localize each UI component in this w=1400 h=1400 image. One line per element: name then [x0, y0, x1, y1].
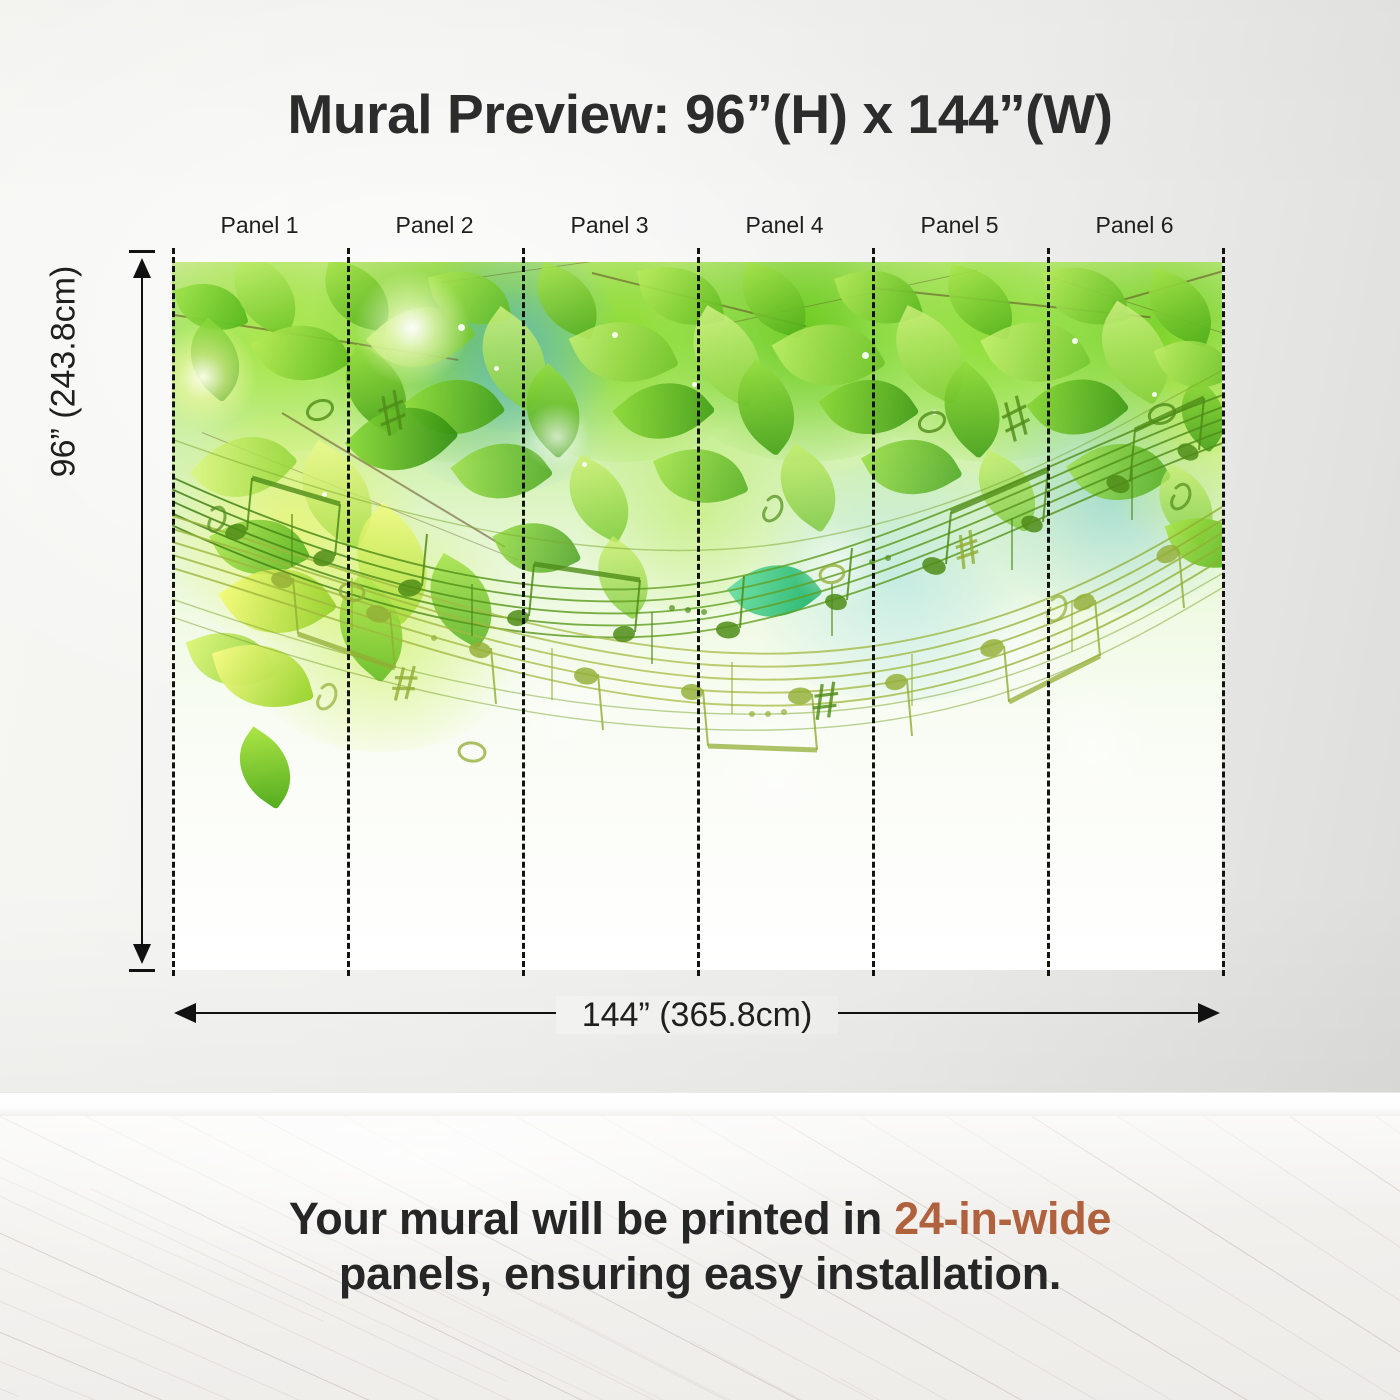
leaf: [761, 443, 854, 533]
panel-label-5: Panel 5: [872, 212, 1047, 239]
branch: [442, 262, 680, 283]
leaf: [637, 262, 725, 334]
leaf: [580, 536, 666, 620]
canopy-bloom: [832, 262, 1152, 462]
leaf: [428, 262, 512, 336]
falling-leaf: [345, 382, 460, 496]
branch: [1112, 263, 1222, 304]
canopy-bloom: [562, 412, 822, 612]
panel-divider: [522, 248, 525, 976]
bokeh: [522, 402, 592, 472]
sparkle: [862, 352, 869, 359]
branch: [172, 312, 458, 361]
height-tick-bottom: [129, 969, 155, 972]
leaf: [327, 344, 424, 436]
bokeh: [502, 652, 622, 772]
leaf: [672, 305, 781, 409]
leaf: [861, 418, 963, 515]
bokeh: [792, 522, 882, 612]
sparkle: [322, 492, 327, 497]
leaf: [450, 421, 554, 521]
leaf: [505, 363, 601, 459]
leaf: [209, 499, 311, 595]
leaf: [1153, 325, 1222, 402]
leaf: [938, 264, 1022, 340]
panel-divider: [697, 248, 700, 976]
caption: Your mural will be printed in 24-in-wide…: [0, 1192, 1400, 1302]
leaf: [173, 272, 249, 343]
leaf: [219, 262, 312, 338]
height-dimension-arrow: [112, 250, 172, 972]
falling-leaf: [222, 726, 308, 809]
canopy-bloom: [232, 512, 532, 752]
leaf: [404, 357, 506, 456]
floor-grain: [540, 1302, 1056, 1400]
width-dimension-label: 144” (365.8cm): [172, 996, 1222, 1035]
height-tick-top: [129, 250, 155, 253]
canopy-bloom: [642, 262, 972, 462]
leaf: [190, 412, 299, 521]
leaf: [731, 262, 817, 339]
caption-line1-prefix: Your mural will be printed in: [289, 1193, 894, 1244]
leaf: [1080, 301, 1190, 406]
canopy-bloom: [372, 292, 632, 492]
leaf: [1042, 262, 1130, 335]
panel-divider: [1047, 248, 1050, 976]
leaf: [524, 262, 610, 340]
width-dimension-text: 144” (365.8cm): [556, 996, 839, 1034]
arrow-shaft: [141, 264, 143, 958]
leaf: [1066, 421, 1172, 523]
canopy-bloom: [732, 462, 1072, 702]
panel-divider: [1222, 248, 1225, 976]
leaf: [569, 300, 680, 403]
leaf: [772, 300, 887, 409]
panel-divider: [172, 248, 175, 976]
panel-label-1: Panel 1: [172, 212, 347, 239]
leaf: [218, 543, 338, 659]
leaf: [251, 304, 353, 401]
canopy-bloom: [962, 382, 1222, 612]
leaf: [980, 300, 1092, 405]
sparkle: [932, 410, 937, 415]
panel-divider: [347, 248, 350, 976]
canopy-bloom: [172, 262, 432, 452]
canopy-bloom: [472, 262, 772, 462]
leaf: [492, 506, 581, 591]
leaf: [834, 262, 924, 338]
bokeh: [962, 592, 1072, 702]
leaf: [922, 361, 1021, 459]
canopy-bloom: [172, 412, 432, 642]
branch: [1052, 277, 1222, 340]
leaf: [186, 617, 277, 701]
falling-leaf: [212, 630, 315, 723]
panel-label-3: Panel 3: [522, 212, 697, 239]
leaf: [279, 440, 395, 550]
leaf: [172, 317, 258, 402]
height-dimension-label: 96” (243.8cm): [45, 112, 84, 632]
sparkle: [1152, 392, 1157, 397]
sparkle: [582, 462, 587, 467]
branch: [202, 432, 518, 560]
leaf: [877, 305, 983, 405]
branch: [732, 270, 977, 323]
page-title: Mural Preview: 96”(H) x 144”(W): [0, 82, 1400, 146]
sun-flare: [172, 322, 258, 432]
bokeh: [712, 692, 842, 822]
leaf: [552, 454, 646, 543]
leaf: [716, 359, 815, 456]
sparkle: [612, 332, 618, 338]
leaf: [963, 450, 1051, 533]
panel-label-6: Panel 6: [1047, 212, 1222, 239]
leaf: [612, 360, 716, 462]
panel-label-2: Panel 2: [347, 212, 522, 239]
leaf: [1026, 356, 1130, 457]
sparkle: [458, 324, 465, 331]
leaf: [1142, 463, 1222, 547]
leaf: [315, 573, 427, 683]
leaf: [1136, 268, 1222, 347]
canopy-bloom: [1072, 322, 1222, 542]
panel-label-4: Panel 4: [697, 212, 872, 239]
arrow-head-down-icon: [133, 944, 151, 964]
leaf: [459, 306, 568, 412]
leaf: [653, 432, 749, 521]
canopy-bloom: [292, 262, 612, 462]
branch: [281, 412, 505, 548]
falling-leaf: [727, 544, 823, 638]
caption-accent-24-in-wide: 24-in-wide: [894, 1193, 1111, 1244]
sparkle: [1072, 338, 1078, 344]
bokeh: [1032, 682, 1152, 802]
width-dimension-arrow: 144” (365.8cm): [172, 1000, 1222, 1026]
leaf: [1165, 377, 1222, 453]
leaf: [317, 262, 398, 333]
baseboard: [0, 1092, 1400, 1118]
panel-divider: [872, 248, 875, 976]
sparkle: [494, 366, 499, 371]
canopy-bloom: [402, 262, 632, 432]
caption-line2: panels, ensuring easy installation.: [339, 1248, 1061, 1299]
leaf: [366, 282, 477, 392]
leaf: [411, 553, 512, 649]
falling-leaf: [1165, 505, 1222, 582]
branch: [872, 287, 1151, 318]
leaf: [818, 358, 920, 456]
canopy-bloom: [1012, 262, 1222, 462]
sun-flare: [352, 268, 472, 388]
